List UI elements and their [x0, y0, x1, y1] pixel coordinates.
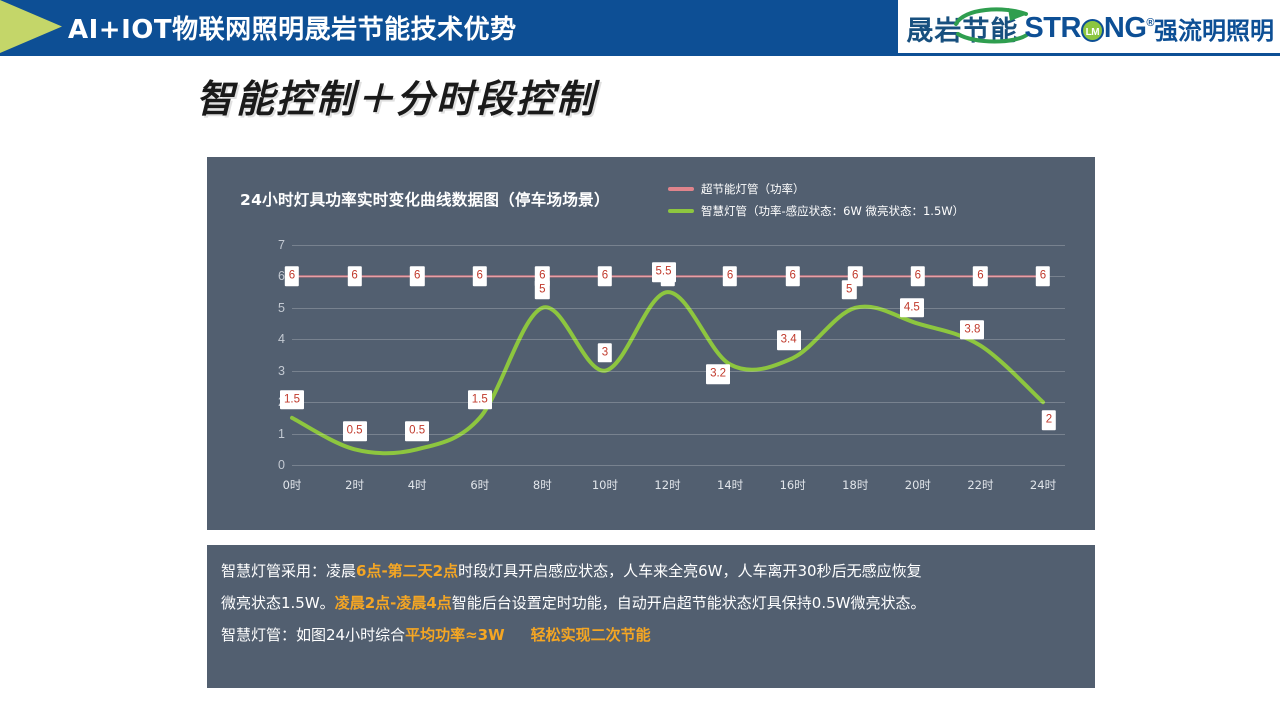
grid-line — [292, 465, 1065, 466]
data-point-label: 5 — [842, 280, 856, 300]
legend-label: 智慧灯管（功率-感应状态：6W 微亮状态：1.5W） — [701, 203, 964, 219]
y-axis-tick-label: 5 — [269, 302, 285, 315]
x-axis-tick-label: 22时 — [967, 477, 993, 493]
note-text: 智慧灯管采用：凌晨 — [221, 562, 356, 580]
data-point-label: 6 — [785, 267, 799, 287]
x-axis-tick-label: 14时 — [717, 477, 743, 493]
logo-registered-mark: ® — [1146, 17, 1154, 29]
data-point-label: 6 — [347, 267, 361, 287]
data-point-label: 3.4 — [777, 330, 801, 350]
data-point-label: 0.5 — [343, 422, 367, 442]
note-highlight: 轻松实现二次节能 — [531, 626, 651, 644]
data-point-label: 0.5 — [405, 422, 429, 442]
y-axis-tick-label: 1 — [269, 428, 285, 441]
data-point-label: 6 — [911, 267, 925, 287]
data-point-label: 6 — [285, 267, 299, 287]
header-underline-divider — [0, 53, 1280, 56]
y-axis-tick-label: 3 — [269, 365, 285, 378]
y-axis-tick-label: 4 — [269, 333, 285, 346]
x-axis-tick-label: 18时 — [842, 477, 868, 493]
data-point-label: 6 — [473, 267, 487, 287]
data-point-label: 2 — [1042, 410, 1056, 430]
note-highlight: 6点-第二天2点 — [356, 562, 458, 580]
data-point-label: 3.8 — [960, 320, 984, 340]
data-point-label: 3.2 — [706, 365, 730, 385]
note-line-3: 智慧灯管：如图24小时综合平均功率≈3W轻松实现二次节能 — [221, 625, 1083, 647]
x-axis-tick-label: 6时 — [470, 477, 489, 493]
x-axis-tick-label: 12时 — [654, 477, 680, 493]
data-point-label: 5 — [535, 280, 549, 300]
notes-panel: 智慧灯管采用：凌晨6点-第二天2点时段灯具开启感应状态，人车来全亮6W，人车离开… — [207, 545, 1095, 688]
grid-line — [292, 339, 1065, 340]
x-axis-tick-label: 8时 — [533, 477, 552, 493]
legend-swatch-icon — [668, 209, 694, 213]
x-axis-tick-label: 4时 — [408, 477, 427, 493]
note-line-1: 智慧灯管采用：凌晨6点-第二天2点时段灯具开启感应状态，人车来全亮6W，人车离开… — [221, 561, 1083, 583]
x-axis-tick-label: 20时 — [905, 477, 931, 493]
company-logo: 晟岩节能 STRLMNG® 强流明照明 — [902, 4, 1274, 52]
legend-swatch-icon — [668, 187, 694, 191]
chevron-arrow-icon — [0, 0, 62, 53]
note-text: 时段灯具开启感应状态，人车来全亮6W，人车离开30秒后无感应恢复 — [458, 562, 921, 580]
grid-line — [292, 276, 1065, 277]
logo-brand-strong: STRLMNG® — [1024, 12, 1154, 45]
note-line-2: 微亮状态1.5W。凌晨2点-凌晨4点智能后台设置定时功能，自动开启超节能状态灯具… — [221, 593, 1083, 615]
grid-line — [292, 402, 1065, 403]
data-point-label: 3 — [598, 343, 612, 363]
data-point-label: 1.5 — [468, 390, 492, 410]
chart-panel: 24小时灯具功率实时变化曲线数据图（停车场场景） 超节能灯管（功率） 智慧灯管（… — [207, 157, 1095, 530]
x-axis-tick-label: 0时 — [283, 477, 302, 493]
x-axis-tick-label: 24时 — [1030, 477, 1056, 493]
x-axis-tick-label: 2时 — [345, 477, 364, 493]
y-axis-tick-label: 7 — [269, 239, 285, 252]
data-point-label: 6 — [723, 267, 737, 287]
chart-plot-area: 012345670时2时4时6时8时10时12时14时16时18时20时22时2… — [269, 245, 1065, 465]
grid-line — [292, 371, 1065, 372]
slide-root: AI+IOT物联网照明晟岩节能技术优势 晟岩节能 STRLMNG® 强流明照明 … — [0, 0, 1280, 720]
y-axis-tick-label: 6 — [269, 270, 285, 283]
legend-item-series-0[interactable]: 超节能灯管（功率） — [668, 179, 964, 199]
logo-company-name-cn: 晟岩节能 — [906, 9, 1018, 48]
x-axis-tick-label: 16时 — [780, 477, 806, 493]
data-point-label: 6 — [598, 267, 612, 287]
data-point-label: 6 — [1036, 267, 1050, 287]
header-title: AI+IOT物联网照明晟岩节能技术优势 — [68, 9, 517, 46]
data-point-label: 6 — [973, 267, 987, 287]
data-point-label: 1.5 — [280, 390, 304, 410]
data-point-label: 4.5 — [900, 298, 924, 318]
data-point-label: 5.5 — [652, 262, 676, 282]
note-text: 智能后台设置定时功能，自动开启超节能状态灯具保持0.5W微亮状态。 — [452, 594, 926, 612]
chart-title: 24小时灯具功率实时变化曲线数据图（停车场场景） — [240, 188, 610, 210]
chart-legend: 超节能灯管（功率） 智慧灯管（功率-感应状态：6W 微亮状态：1.5W） — [668, 179, 964, 223]
data-point-label: 6 — [410, 267, 424, 287]
legend-item-series-1[interactable]: 智慧灯管（功率-感应状态：6W 微亮状态：1.5W） — [668, 201, 964, 221]
note-highlight: 平均功率≈3W — [405, 626, 505, 644]
legend-label: 超节能灯管（功率） — [701, 181, 805, 197]
note-highlight: 凌晨2点-凌晨4点 — [335, 594, 452, 612]
grid-line — [292, 245, 1065, 246]
y-axis-tick-label: 0 — [269, 459, 285, 472]
page-title: 智能控制＋分时段控制 — [196, 68, 596, 123]
grid-line — [292, 308, 1065, 309]
logo-lm-badge-icon: LM — [1081, 19, 1104, 42]
note-text: 智慧灯管：如图24小时综合 — [221, 626, 405, 644]
header-bar: AI+IOT物联网照明晟岩节能技术优势 — [0, 0, 898, 53]
note-text: 微亮状态1.5W。 — [221, 594, 335, 612]
x-axis-tick-label: 10时 — [592, 477, 618, 493]
logo-brand-cn: 强流明照明 — [1154, 11, 1274, 46]
